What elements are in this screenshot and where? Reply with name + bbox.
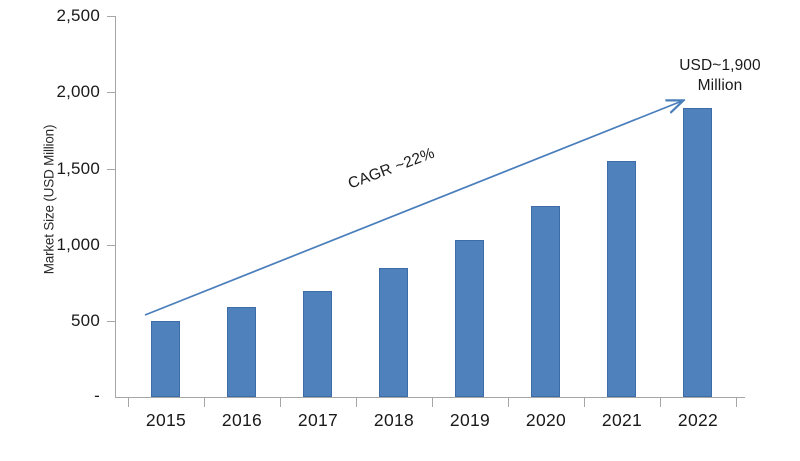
y-tick-label-2000: 2,000	[16, 82, 100, 102]
x-tick-label-2022: 2022	[653, 410, 743, 431]
x-tick-mark-7	[660, 398, 661, 407]
endpoint-annotation-label: USD~1,900 Million	[655, 56, 785, 96]
y-tick-mark-1500	[107, 169, 115, 170]
cagr-annotation-label: CAGR ~22%	[346, 145, 438, 194]
x-tick-mark-8	[736, 398, 737, 407]
x-tick-mark-5	[508, 398, 509, 407]
y-tick-label-1500: 1,500	[16, 159, 100, 179]
y-tick-mark-1000	[107, 245, 115, 246]
y-tick-mark-2000	[107, 92, 115, 93]
y-axis-title: Market Size (USD Million)	[42, 105, 57, 295]
market-size-bar-chart: Market Size (USD Million) 2,500 2,000 1,…	[0, 0, 800, 461]
bar-2016	[227, 307, 256, 397]
x-tick-mark-0	[128, 398, 129, 407]
y-tick-label-500: 500	[16, 311, 100, 331]
bar-2022	[683, 108, 712, 397]
y-axis-line	[115, 16, 116, 398]
endpoint-annotation-line2: Million	[655, 76, 785, 96]
y-tick-mark-2500	[107, 16, 115, 17]
x-axis-line	[115, 397, 745, 398]
x-tick-mark-2	[280, 398, 281, 407]
x-tick-mark-3	[356, 398, 357, 407]
bar-2015	[151, 321, 180, 397]
bar-2019	[455, 240, 484, 397]
bar-2021	[607, 161, 636, 397]
y-tick-label-0: -	[16, 386, 100, 406]
bar-2017	[303, 291, 332, 397]
y-tick-mark-500	[107, 321, 115, 322]
y-tick-label-1000: 1,000	[16, 235, 100, 255]
bar-2020	[531, 206, 560, 397]
y-tick-label-2500: 2,500	[16, 6, 100, 26]
x-tick-mark-4	[432, 398, 433, 407]
endpoint-annotation-line1: USD~1,900	[655, 56, 785, 76]
x-tick-mark-1	[204, 398, 205, 407]
x-tick-mark-6	[584, 398, 585, 407]
bar-2018	[379, 268, 408, 397]
